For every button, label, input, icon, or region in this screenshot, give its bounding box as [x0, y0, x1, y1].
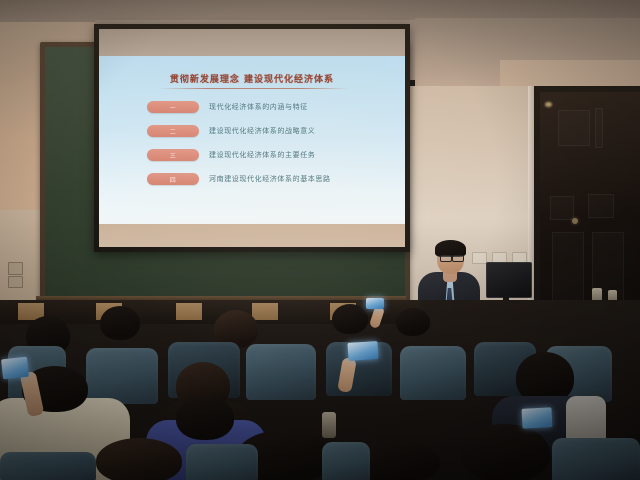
agenda-item-label: 建设现代化经济体系的战略意义: [209, 126, 315, 136]
auditorium-seat: [322, 442, 370, 480]
agenda-number-badge: 三: [147, 149, 199, 161]
audience-head: [100, 306, 140, 340]
door-knob-icon[interactable]: [572, 218, 578, 224]
slide-agenda-item: 一 现代化经济体系的内涵与特征: [99, 98, 405, 116]
audience-phone-screen[interactable]: [347, 341, 378, 361]
wall-socket-icon: [8, 276, 23, 288]
slide-title-underline: [159, 88, 349, 89]
agenda-item-label: 现代化经济体系的内涵与特征: [209, 102, 308, 112]
slide-title: 贯彻新发展理念 建设现代化经济体系: [99, 72, 405, 85]
audience-head: [332, 304, 368, 334]
door-panel: [595, 108, 603, 148]
light-switch-icon[interactable]: [472, 252, 487, 264]
door-highlight: [545, 102, 552, 107]
agenda-number-badge: 二: [147, 125, 199, 137]
speaker-glasses-icon: [452, 255, 464, 262]
desk-panel: [176, 303, 202, 320]
wall-socket-icon: [8, 262, 23, 275]
audience-head: [460, 424, 550, 480]
door-panel: [552, 232, 584, 304]
door-panel: [588, 194, 614, 218]
auditorium-seat: [186, 444, 258, 480]
audience-head: [396, 308, 430, 336]
agenda-item-label: 建设现代化经济体系的主要任务: [209, 150, 315, 160]
auditorium-seat: [246, 344, 316, 400]
auditorium-seat: [552, 438, 640, 480]
audience-head: [96, 438, 182, 480]
slide-agenda-item: 四 河南建设现代化经济体系的基本思路: [99, 170, 405, 188]
auditorium-seat: [0, 452, 96, 480]
thermos-cup: [322, 412, 336, 438]
speaker-glasses-icon: [440, 255, 452, 262]
presenter-monitor[interactable]: [486, 262, 532, 298]
agenda-number-badge: 四: [147, 173, 199, 185]
screen-top-band: [99, 29, 405, 56]
slide-agenda-list: 一 现代化经济体系的内涵与特征 二 建设现代化经济体系的战略意义 三 建设现代化…: [99, 98, 405, 194]
agenda-number-badge: 一: [147, 101, 199, 113]
audience-phone-screen[interactable]: [1, 357, 29, 380]
slide-agenda-item: 二 建设现代化经济体系的战略意义: [99, 122, 405, 140]
door-panel: [550, 196, 574, 220]
slide-agenda-item: 三 建设现代化经济体系的主要任务: [99, 146, 405, 164]
screen-bottom-band: [99, 224, 405, 247]
auditorium-seat: [400, 346, 466, 400]
presentation-slide: 贯彻新发展理念 建设现代化经济体系 一 现代化经济体系的内涵与特征 二 建设现代…: [99, 56, 405, 224]
desk-panel: [252, 303, 278, 320]
auditorium-seat: [86, 348, 158, 404]
lecture-hall-photo: 贯彻新发展理念 建设现代化经济体系 一 现代化经济体系的内涵与特征 二 建设现代…: [0, 0, 640, 480]
projection-screen: 贯彻新发展理念 建设现代化经济体系 一 现代化经济体系的内涵与特征 二 建设现代…: [99, 29, 405, 247]
door-panel: [558, 110, 590, 146]
audience-head: [176, 396, 234, 440]
audience-phone-screen[interactable]: [366, 298, 384, 309]
agenda-item-label: 河南建设现代化经济体系的基本思路: [209, 174, 331, 184]
audience-phone-screen[interactable]: [521, 407, 552, 429]
